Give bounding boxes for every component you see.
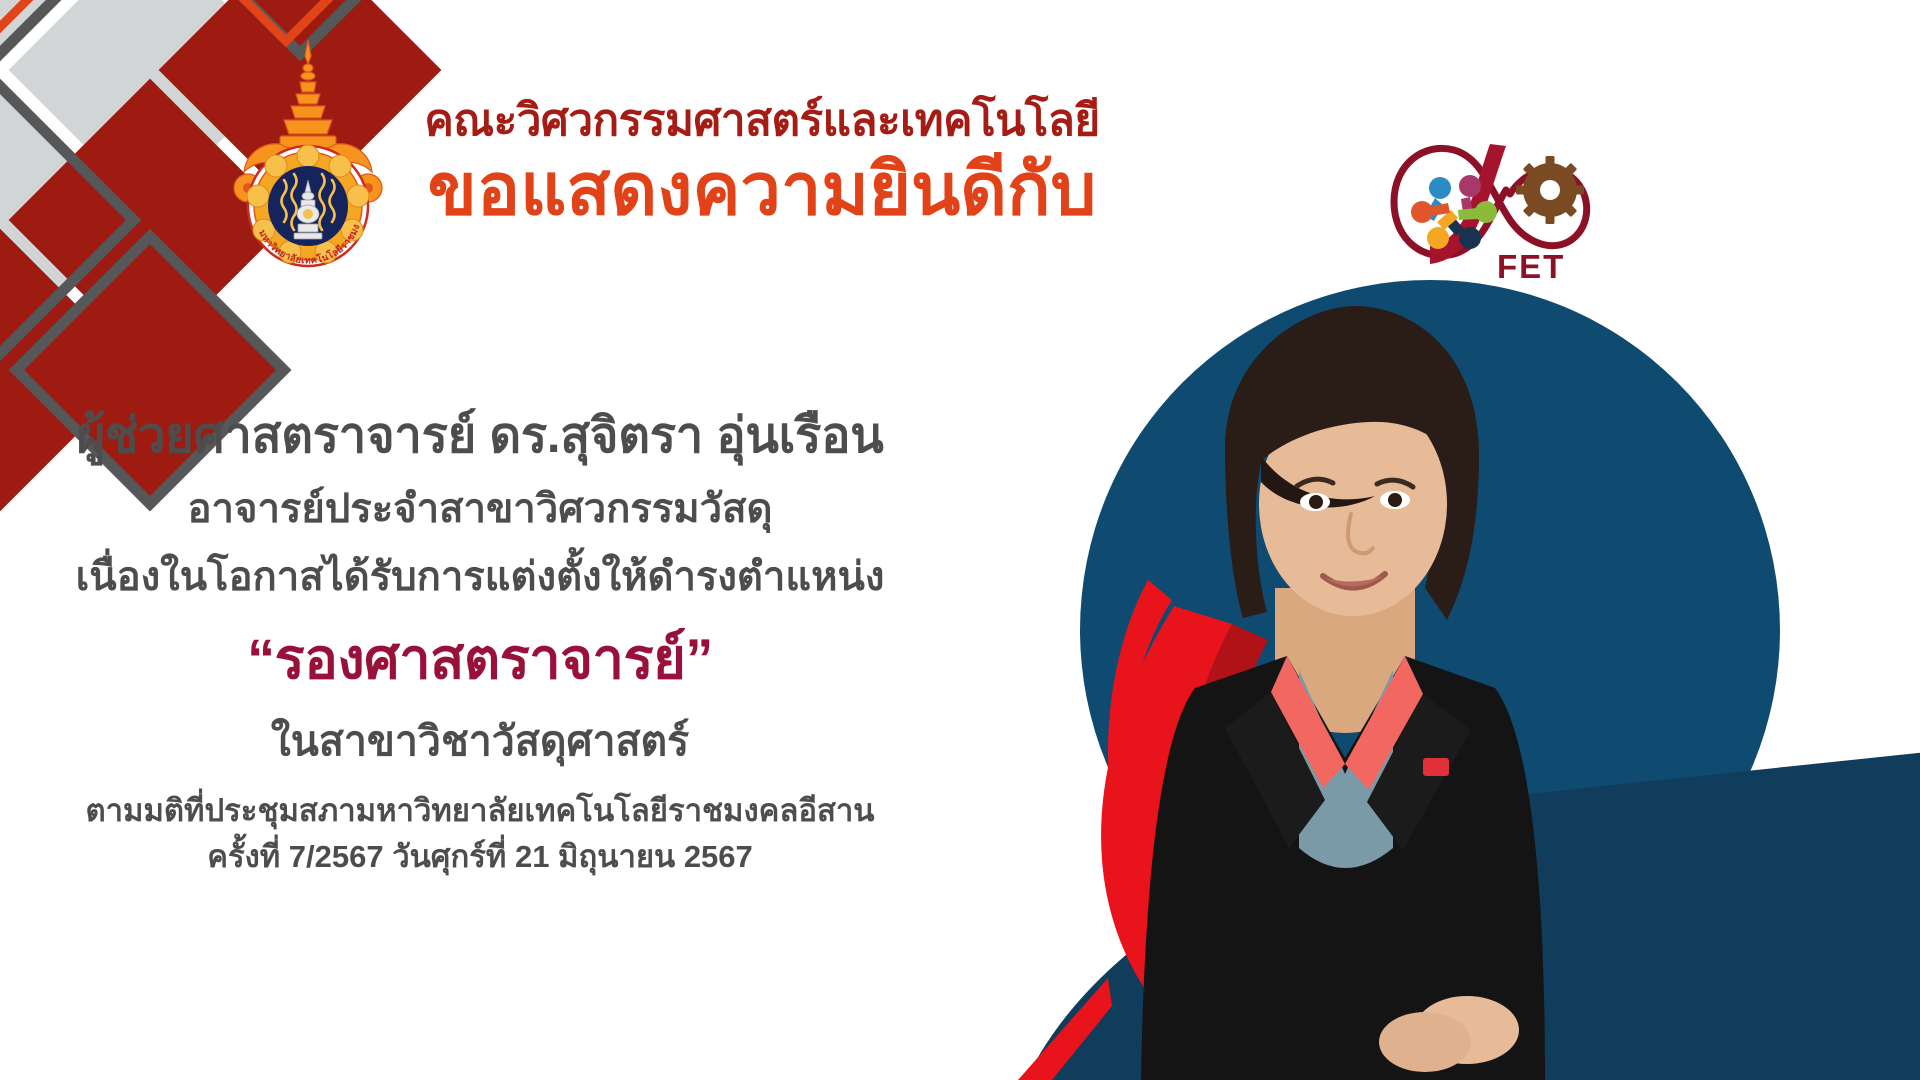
university-emblem-icon: มหาวิทยาลัยเทคโนโลยีราชมงคลอีสาน xyxy=(222,38,394,286)
header-text-block: คณะวิศวกรรมศาสตร์และเทคโนโลยี ขอแสดงความ… xyxy=(382,96,1142,232)
field-of-study: ในสาขาวิชาวัสดุศาสตร์ xyxy=(0,715,960,768)
occasion-text: เนื่องในโอกาสได้รับการแต่งตั้งให้ดำรงตำแ… xyxy=(0,551,960,603)
meeting-date: ครั้งที่ 7/2567 วันศุกร์ที่ 21 มิถุนายน … xyxy=(0,837,960,877)
congratulations-poster: มหาวิทยาลัยเทคโนโลยีราชมงคลอีสาน คณะวิศว… xyxy=(0,0,1920,1080)
awarded-title: “รองศาสตราจารย์” xyxy=(0,623,960,696)
portrait-photo xyxy=(1075,288,1635,1080)
resolution-text: ตามมติที่ประชุมสภามหาวิทยาลัยเทคโนโลยีรา… xyxy=(0,791,960,831)
honoree-role: อาจารย์ประจำสาขาวิศวกรรมวัสดุ xyxy=(0,483,960,535)
message-block: ผู้ช่วยศาสตราจารย์ ดร.สุจิตรา อุ่นเรือน … xyxy=(0,405,960,877)
honoree-name: ผู้ช่วยศาสตราจารย์ ดร.สุจิตรา อุ่นเรือน xyxy=(0,405,960,469)
faculty-name: คณะวิศวกรรมศาสตร์และเทคโนโลยี xyxy=(382,96,1142,147)
congratulations-headline: ขอแสดงความยินดีกับ xyxy=(382,149,1142,233)
fet-wordmark: FET xyxy=(1497,248,1607,286)
gear-icon xyxy=(1516,156,1584,224)
